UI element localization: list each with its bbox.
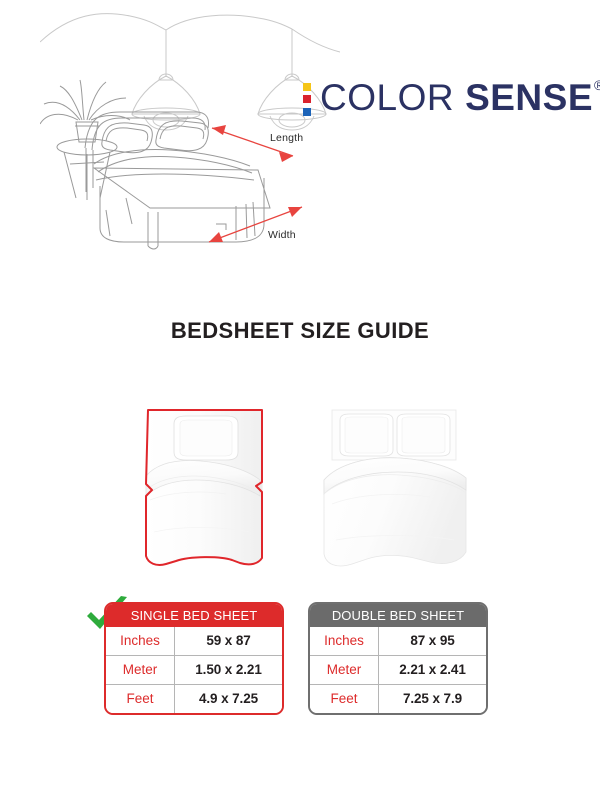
- swatch-blue: [303, 108, 311, 116]
- product-images-row: [0, 400, 600, 600]
- size-value: 87 x 95: [379, 627, 486, 655]
- swatch-yellow: [303, 83, 311, 91]
- side-table-icon: [57, 139, 117, 200]
- potted-plant-icon: [40, 80, 130, 142]
- single-spec-header: SINGLE BED SHEET: [106, 604, 282, 627]
- brand-logo[interactable]: COLORSENSE®: [303, 74, 600, 122]
- logo-word-color: COLOR: [320, 77, 454, 118]
- unit-label: Feet: [106, 685, 175, 713]
- page-title: BEDSHEET SIZE GUIDE: [0, 318, 600, 344]
- unit-label: Inches: [310, 627, 379, 655]
- size-value: 2.21 x 2.41: [379, 656, 486, 684]
- double-bed-sheet-spec-card[interactable]: DOUBLE BED SHEET Inches 87 x 95 Meter 2.…: [308, 602, 488, 715]
- double-bed-image[interactable]: [318, 400, 470, 590]
- size-value: 7.25 x 7.9: [379, 685, 486, 713]
- size-value: 1.50 x 2.21: [175, 656, 282, 684]
- single-spec-body: Inches 59 x 87 Meter 1.50 x 2.21 Feet 4.…: [106, 627, 282, 713]
- hero-illustration-section: Length Width COLORSENSE®: [0, 0, 600, 272]
- swatch-red: [303, 95, 311, 103]
- logo-wordmark: COLORSENSE®: [320, 79, 600, 116]
- table-row: Meter 2.21 x 2.41: [310, 656, 486, 685]
- width-label: Width: [268, 229, 296, 241]
- single-bed-image[interactable]: [140, 400, 270, 590]
- unit-label: Meter: [310, 656, 379, 684]
- double-spec-header: DOUBLE BED SHEET: [310, 604, 486, 627]
- unit-label: Feet: [310, 685, 379, 713]
- registered-trademark-icon: ®: [594, 77, 600, 93]
- pendant-lamp-left-icon: [132, 30, 200, 130]
- logo-word-sense: SENSE: [465, 77, 593, 118]
- table-row: Inches 59 x 87: [106, 627, 282, 656]
- table-row: Feet 4.9 x 7.25: [106, 685, 282, 713]
- table-row: Feet 7.25 x 7.9: [310, 685, 486, 713]
- ceiling-line: [40, 14, 340, 52]
- table-row: Inches 87 x 95: [310, 627, 486, 656]
- size-value: 59 x 87: [175, 627, 282, 655]
- double-spec-body: Inches 87 x 95 Meter 2.21 x 2.41 Feet 7.…: [310, 627, 486, 713]
- single-bed-sheet-spec-card[interactable]: SINGLE BED SHEET Inches 59 x 87 Meter 1.…: [104, 602, 284, 715]
- unit-label: Meter: [106, 656, 175, 684]
- unit-label: Inches: [106, 627, 175, 655]
- logo-color-swatches: [303, 81, 311, 116]
- length-label: Length: [270, 132, 303, 144]
- size-value: 4.9 x 7.25: [175, 685, 282, 713]
- bed-icon: [85, 112, 270, 249]
- table-row: Meter 1.50 x 2.21: [106, 656, 282, 685]
